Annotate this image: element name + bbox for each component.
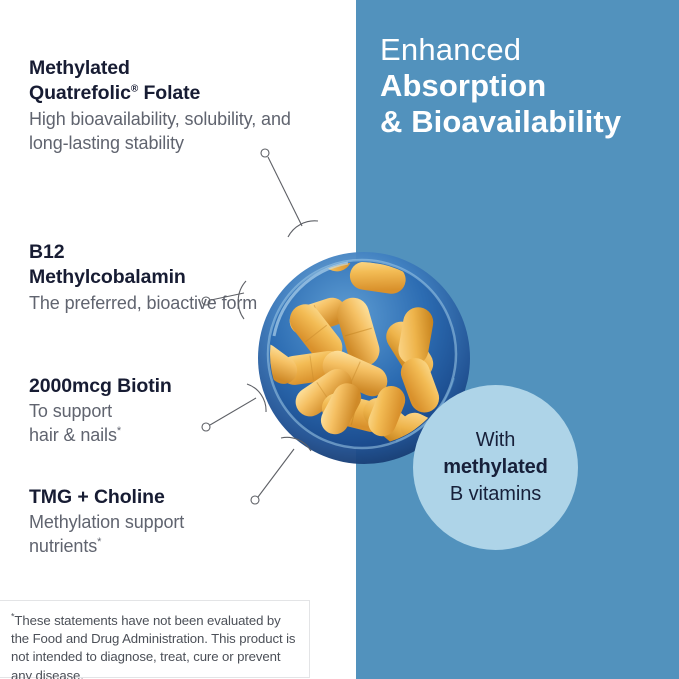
asterisk-icon: * [97, 536, 101, 548]
callout-1-title-line-2: Quatrefolic [29, 82, 131, 104]
headline-line-2: Absorption [380, 68, 676, 104]
callout-4-title: TMG + Choline [29, 485, 291, 510]
callout-methylated-folate: Methylated Quatrefolic® Folate High bioa… [29, 56, 291, 156]
callout-3-body-line-1: To support [29, 401, 112, 421]
headline: Enhanced Absorption & Bioavailability [380, 32, 676, 140]
callout-4-body-line-2: nutrients [29, 536, 97, 556]
callout-2-title-line-2: Methylcobalamin [29, 266, 186, 288]
callout-4-body-line-1: Methylation support [29, 512, 184, 532]
headline-line-3: & Bioavailability [380, 104, 676, 140]
callout-tmg-choline: TMG + Choline Methylation support nutrie… [29, 485, 291, 559]
badge-line-1: With [476, 427, 516, 454]
fda-disclaimer-body: These statements have not been evaluated… [11, 613, 295, 679]
callout-1-title-line-1: Methylated [29, 57, 130, 79]
callout-1-body: High bioavailability, solubility, and lo… [29, 108, 291, 156]
callout-1-title: Methylated Quatrefolic® Folate [29, 56, 291, 107]
callout-2-body: The preferred, bioactive form [29, 292, 291, 316]
methylated-b-vitamins-badge: With methylated B vitamins [413, 385, 578, 550]
product-infographic: Enhanced Absorption & Bioavailability Me… [0, 0, 679, 679]
callout-2-title-line-1: B12 [29, 241, 64, 263]
headline-line-1: Enhanced [380, 32, 676, 68]
callout-2-title: B12 Methylcobalamin [29, 240, 291, 291]
callout-4-title-line-1: TMG + Choline [29, 486, 165, 508]
badge-line-2: methylated [443, 454, 548, 481]
callout-1-title-line-2-tail: Folate [138, 82, 200, 104]
callout-3-body: To support hair & nails* [29, 400, 291, 448]
callout-3-title: 2000mcg Biotin [29, 374, 291, 399]
callout-4-body: Methylation support nutrients* [29, 511, 291, 559]
badge-line-3: B vitamins [450, 481, 541, 508]
fda-disclaimer-box: *These statements have not been evaluate… [0, 600, 310, 678]
asterisk-icon: * [117, 425, 121, 437]
fda-disclaimer-text: *These statements have not been evaluate… [0, 601, 309, 679]
callout-biotin: 2000mcg Biotin To support hair & nails* [29, 374, 291, 448]
callout-3-title-line-1: 2000mcg Biotin [29, 375, 172, 397]
callout-b12-methylcobalamin: B12 Methylcobalamin The preferred, bioac… [29, 240, 291, 316]
callout-3-body-line-2: hair & nails [29, 425, 117, 445]
